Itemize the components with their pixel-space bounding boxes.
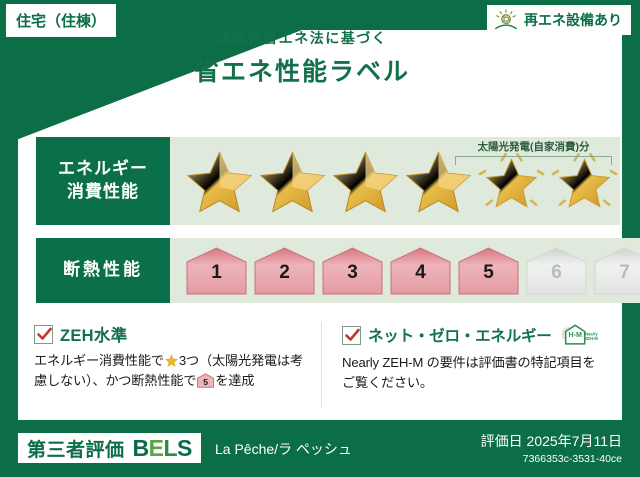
insulation-level-3: 3: [320, 246, 385, 296]
star-filled-3: [330, 147, 401, 215]
zeh-desc-part3: を達成: [215, 373, 254, 388]
evaluation-date: 評価日 2025年7月11日: [481, 431, 622, 451]
house-type-tag-label: 住宅（住棟）: [16, 10, 106, 31]
zeh-standard-column: ZEH水準 エネルギー消費性能で3つ（太陽光発電は考慮しない）、かつ断熱性能で5…: [34, 322, 321, 408]
insulation-level-4: 4: [388, 246, 453, 296]
bels-letter-b: B: [133, 435, 149, 461]
insulation-row-label: 断熱性能: [36, 238, 170, 303]
insulation-row-body: 1 2 3 4 5: [170, 238, 640, 303]
insulation-level-7: 7: [592, 246, 640, 296]
evaluation-id: 7366353c-3531-40ce: [481, 453, 622, 465]
sun-energy-icon: [493, 9, 519, 31]
net-zero-title: ネット・ゼロ・エネルギー: [368, 324, 552, 346]
insulation-level-4-number: 4: [388, 261, 453, 283]
insulation-level-5-number: 5: [456, 261, 521, 283]
bels-logo: BELS: [133, 435, 192, 462]
insulation-level-group: 1 2 3 4 5: [170, 246, 640, 296]
zeh-standard-description: エネルギー消費性能で3つ（太陽光発電は考慮しない）、かつ断熱性能で5を達成: [34, 351, 309, 391]
energy-label-line2: 消費性能: [67, 181, 139, 204]
bels-certification-box: 第三者評価 BELS: [18, 433, 201, 463]
insulation-level-1-number: 1: [184, 261, 249, 283]
property-name: La Pêche/ラ ペッシュ: [215, 439, 352, 459]
check-icon: [34, 325, 53, 344]
net-zero-heading: ネット・ゼロ・エネルギー H-M Nearly ZEH-M: [342, 322, 596, 348]
star-solar-6: [549, 147, 620, 215]
third-party-eval-label: 第三者評価: [27, 435, 125, 462]
insulation-level-6-number: 6: [524, 261, 589, 283]
svg-text:5: 5: [203, 377, 208, 387]
star-icon: [164, 353, 179, 367]
svg-text:ZEH-M: ZEH-M: [584, 336, 597, 341]
net-zero-energy-column: ネット・ゼロ・エネルギー H-M Nearly ZEH-M Nearly ZEH…: [321, 322, 608, 408]
star-solar-5: [476, 147, 547, 215]
insulation-level-2: 2: [252, 246, 317, 296]
insulation-level-5-icon: 5: [196, 373, 215, 388]
bels-letter-l: L: [163, 435, 177, 461]
insulation-performance-row: 断熱性能 1 2: [36, 238, 606, 303]
energy-row-body: 太陽光発電(自家消費)分: [170, 137, 620, 225]
label-title-block: 建築物省エネ法に基づく 省エネ性能ラベル: [0, 28, 604, 88]
nearly-zeh-m-logo: H-M Nearly ZEH-M: [560, 322, 598, 348]
star-filled-1: [184, 147, 255, 215]
house-type-tag: 住宅（住棟）: [6, 4, 116, 37]
title-main: 省エネ性能ラベル: [0, 52, 604, 88]
star-rating-group: [170, 147, 620, 215]
check-icon: [342, 326, 361, 345]
insulation-level-3-number: 3: [320, 261, 385, 283]
insulation-level-2-number: 2: [252, 261, 317, 283]
energy-row-label: エネルギー 消費性能: [36, 137, 170, 225]
energy-performance-label: 住宅（住棟） 再エネ設備あり 建築物省エネ法に基づく 省エネ性能ラベル: [0, 0, 640, 477]
insulation-level-5: 5: [456, 246, 521, 296]
label-footer: 第三者評価 BELS La Pêche/ラ ペッシュ 評価日 2025年7月11…: [0, 420, 640, 477]
energy-label-line1: エネルギー: [58, 158, 148, 181]
zeh-desc-part1: エネルギー消費性能で: [34, 353, 164, 368]
net-zero-description: Nearly ZEH-M の要件は評価書の特記項目をご覧ください。: [342, 353, 596, 393]
zeh-standard-title: ZEH水準: [60, 322, 128, 346]
renewable-badge-label: 再エネ設備あり: [524, 10, 622, 30]
energy-performance-row: エネルギー 消費性能: [36, 137, 606, 225]
bels-letter-e: E: [149, 435, 164, 461]
insulation-level-1: 1: [184, 246, 249, 296]
certification-info-columns: ZEH水準 エネルギー消費性能で3つ（太陽光発電は考慮しない）、かつ断熱性能で5…: [34, 322, 608, 408]
star-filled-2: [257, 147, 328, 215]
evaluation-info: 評価日 2025年7月11日 7366353c-3531-40ce: [481, 431, 622, 465]
bels-letter-s: S: [177, 435, 192, 461]
svg-text:H-M: H-M: [568, 331, 582, 339]
insulation-level-7-number: 7: [592, 261, 640, 283]
renewable-energy-badge: 再エネ設備あり: [487, 5, 631, 35]
insulation-label: 断熱性能: [63, 259, 143, 282]
insulation-level-6: 6: [524, 246, 589, 296]
star-filled-4: [403, 147, 474, 215]
zeh-standard-heading: ZEH水準: [34, 322, 309, 346]
